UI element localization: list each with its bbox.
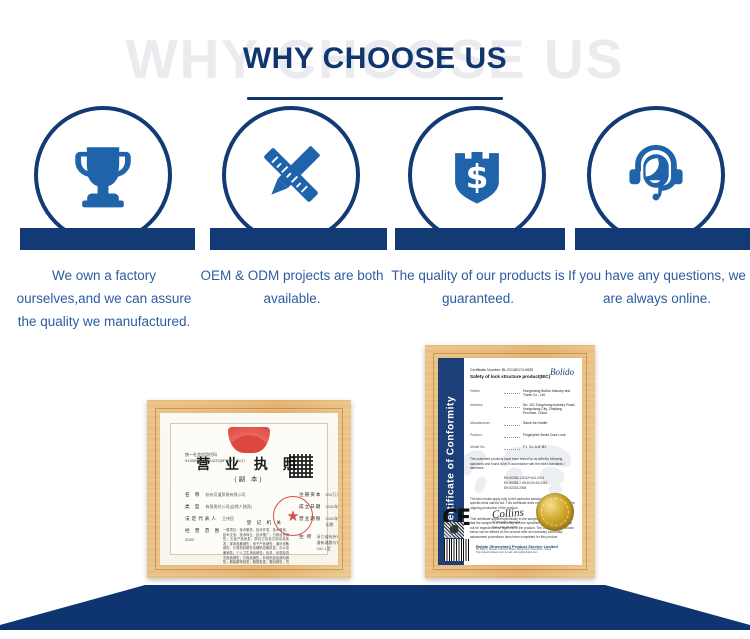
feature-icon-block: $ <box>384 104 572 254</box>
navy-platform-shape <box>0 560 750 639</box>
certificate-body: Bolido Certificate Number: BL-E2180174-0… <box>470 358 576 565</box>
red-seal-stamp <box>273 496 313 536</box>
conformity-certificate-frame[interactable]: Certificate of Conformity Bolido Certifi… <box>425 345 595 578</box>
feature-item-quality[interactable]: $ The quality of our products is guarant… <box>384 104 572 254</box>
feature-icon-block <box>563 104 750 254</box>
gold-foil-seal-icon <box>536 493 574 531</box>
field-key: 住 所 <box>299 534 312 552</box>
standard-item: EN 62233:2008 <box>504 486 576 491</box>
title-underline <box>247 97 503 100</box>
certificate-of-conformity-photo: Certificate of Conformity Bolido Certifi… <box>438 358 582 565</box>
signature-date: Date: Mar.23,2018 <box>492 525 548 529</box>
license-emblem <box>228 427 270 453</box>
field-value: 有限责任公司(自然人独资) <box>205 504 252 510</box>
dot-leader <box>504 389 520 394</box>
field-value: 2020年 11月 26日 <box>325 504 338 510</box>
certificate-fields: HolderHongshang Bolido Industry and Trad… <box>470 389 576 451</box>
feature-row: We own a factory ourselves,and we can as… <box>0 104 750 354</box>
field-value: 王伟民 <box>222 516 234 522</box>
license-date: 2020 <box>185 537 194 542</box>
field-key: 名 称 <box>185 492 201 498</box>
certificate-number-label: Certificate Number: <box>470 368 501 372</box>
field-value: Hongshang Bolido Industry and Trade Co.,… <box>523 389 576 397</box>
headset-support-icon <box>587 106 725 244</box>
dot-leader <box>504 403 520 408</box>
business-license-photo: 统一社会信用代码 91330404MA2J2ZQ5FY5T （1/1） 营 业 … <box>160 413 338 565</box>
contact-line: http://www.bolideok.com E-mail: admin@bo… <box>476 551 576 555</box>
field-key: Holder <box>470 389 504 397</box>
icon-banner-bar <box>210 228 387 250</box>
feature-caption: We own a factory ourselves,and we can as… <box>10 264 198 333</box>
icon-banner-bar <box>575 228 750 250</box>
field-key: Model No. <box>470 445 504 451</box>
field-key: Product <box>470 433 504 439</box>
pencil-ruler-icon <box>222 106 360 244</box>
bolido-logo: Bolido <box>550 367 574 377</box>
certificate-address: 4F, Bldg 5, Fuyuan Ind Park Street, Baoa… <box>476 548 576 555</box>
field-key: 类 型 <box>185 504 201 510</box>
certificate-page: Certificate of Conformity Bolido Certifi… <box>438 358 582 565</box>
page-title-block: WHY CHOOSE US WHY CHOOSE US <box>0 18 750 96</box>
certificate-standards: EN 60335-1:2012+A11:2014 EN 60335-2-95:2… <box>504 476 576 491</box>
field-key: Manufacturer <box>470 421 504 427</box>
license-inner-page: 统一社会信用代码 91330404MA2J2ZQ5FY5T （1/1） 营 业 … <box>170 423 328 555</box>
field-key: 法定代表人 <box>185 516 218 522</box>
field-value: 杭州贝道贸易有限公司 <box>205 492 245 498</box>
field-value: 浙江省杭州市萧山区新塘街道新塘路与育才路交叉口1-202-1室 <box>316 534 338 552</box>
shield-dollar-icon: $ <box>408 106 546 244</box>
certificate-number-value: BL-E2180174-0835 <box>502 368 533 372</box>
license-scope-text: 一般项目：技术服务、技术开发、技术咨询、技术交流、技术转让、技术推广；日用百货销… <box>223 528 289 565</box>
field-key: 经 营 范 围 <box>185 528 221 534</box>
feature-caption: The quality of our products is guarantee… <box>384 264 572 310</box>
feature-caption: OEM & ODM projects are both available. <box>198 264 386 310</box>
feature-item-factory[interactable]: We own a factory ourselves,and we can as… <box>10 104 198 254</box>
crest-icon <box>444 522 464 538</box>
barcode-icon <box>444 539 470 561</box>
business-license-frame[interactable]: 统一社会信用代码 91330404MA2J2ZQ5FY5T （1/1） 营 业 … <box>147 400 351 578</box>
svg-text:$: $ <box>466 158 489 196</box>
icon-banner-bar <box>20 228 195 250</box>
field-value: Fingerprint Smart Door Lock <box>523 433 576 439</box>
field-value: 2020年 11月 26日 至 长期 <box>325 516 338 528</box>
why-choose-us-banner: WHY CHOOSE US WHY CHOOSE US We own a fac… <box>0 0 750 639</box>
field-key: 注册资本 <box>299 492 321 498</box>
field-value: 500万元整 <box>325 492 338 498</box>
field-value: F1, S1, A-8, B1 <box>523 445 576 451</box>
feature-icon-block <box>198 104 386 254</box>
field-key: Address <box>470 403 504 415</box>
certificate-paragraph: The submitted products have been tested … <box>470 457 576 471</box>
license-page: 统一社会信用代码 91330404MA2J2ZQ5FY5T （1/1） 营 业 … <box>160 413 338 565</box>
dot-leader <box>504 433 520 438</box>
qr-code-icon <box>289 454 313 478</box>
dot-leader <box>504 421 520 426</box>
dot-leader <box>504 445 520 450</box>
feature-item-oem-odm[interactable]: OEM & ODM projects are both available. <box>198 104 386 254</box>
feature-icon-block <box>10 104 198 254</box>
field-value: No. 101 Tongzhong Industry Road, Hongsha… <box>523 403 576 415</box>
feature-item-support[interactable]: If you have any questions, we are always… <box>563 104 750 254</box>
feature-caption: If you have any questions, we are always… <box>563 264 750 310</box>
icon-banner-bar <box>395 228 565 250</box>
trophy-icon <box>34 106 172 244</box>
field-value: Same As Holder <box>523 421 576 427</box>
page-title: WHY CHOOSE US <box>0 44 750 74</box>
